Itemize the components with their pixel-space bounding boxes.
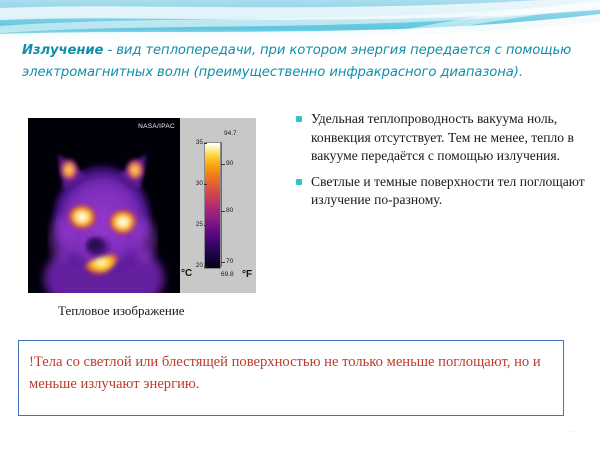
nasa-ipac-watermark: NASA/IPAC: [138, 123, 175, 130]
celsius-tick-25: 25: [196, 221, 203, 228]
thermal-dog-svg: [28, 118, 180, 293]
fahrenheit-tick-80: 80: [226, 207, 233, 214]
figure-caption: Тепловое изображение: [58, 303, 185, 319]
fahrenheit-max-label: 94.7: [224, 130, 237, 137]
thermal-colorbar: [204, 142, 221, 269]
fahrenheit-tick-90: 90: [226, 160, 233, 167]
fahrenheit-unit-label: °F: [242, 269, 252, 280]
celsius-tick-20: 20: [196, 262, 203, 269]
thermal-figure: NASA/IPAC 94.7 69.8 35 30 25 20 90 80 70…: [28, 118, 256, 293]
celsius-unit-label: °C: [181, 268, 192, 279]
list-item: Удельная теплопроводность вакуума ноль, …: [296, 110, 588, 166]
thermal-dog-image: NASA/IPAC: [28, 118, 180, 293]
bullet-text: Светлые и темные поверхности тел поглоща…: [311, 173, 588, 210]
celsius-tick-labels: 35 30 25 20: [182, 142, 203, 267]
celsius-tick-35: 35: [196, 139, 203, 146]
callout-text: !Тела со светлой или блестящей поверхнос…: [19, 341, 563, 395]
bullet-marker-icon: [296, 179, 302, 185]
page-title: Излучение - вид теплопередачи, при котор…: [22, 40, 582, 83]
temperature-scale-panel: 94.7 69.8 35 30 25 20 90 80 70 °C °F: [180, 118, 256, 293]
callout-box: !Тела со светлой или блестящей поверхнос…: [18, 340, 564, 416]
slide: Излучение - вид теплопередачи, при котор…: [0, 0, 600, 450]
bullet-marker-icon: [296, 116, 302, 122]
corner-watermark: …: [568, 425, 578, 434]
fahrenheit-tick-labels: 90 80 70: [221, 142, 254, 267]
fahrenheit-tick-70: 70: [226, 258, 233, 265]
list-item: Светлые и темные поверхности тел поглоща…: [296, 173, 588, 210]
title-lead-word: Излучение: [22, 43, 103, 58]
celsius-tick-30: 30: [196, 180, 203, 187]
bullet-list: Удельная теплопроводность вакуума ноль, …: [296, 110, 588, 217]
bullet-text: Удельная теплопроводность вакуума ноль, …: [311, 110, 588, 166]
title-rest: - вид теплопередачи, при котором энергия…: [22, 43, 571, 80]
fahrenheit-min-label: 69.8: [221, 271, 234, 278]
